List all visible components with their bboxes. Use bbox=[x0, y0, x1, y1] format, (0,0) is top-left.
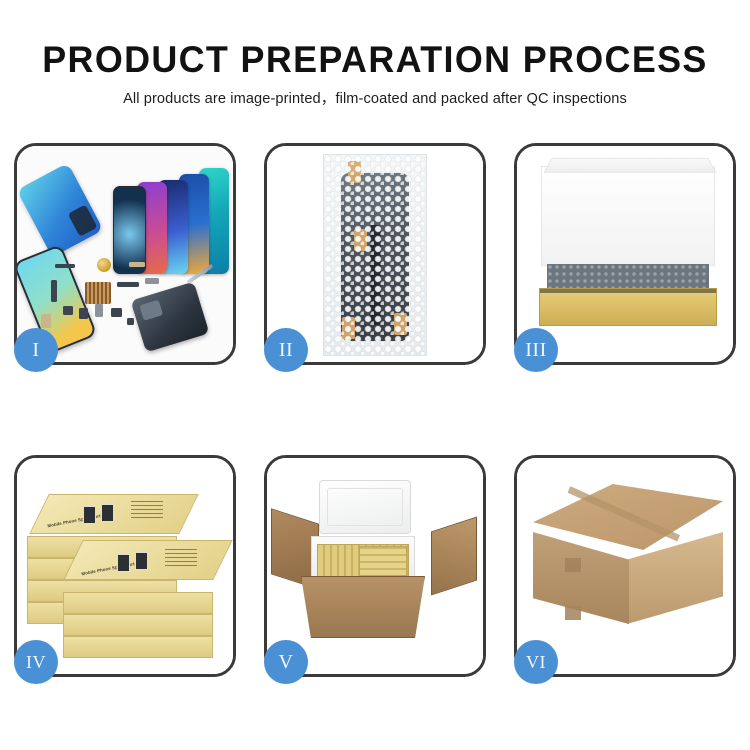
step-2-image bbox=[267, 146, 483, 362]
page-title: PRODUCT PREPARATION PROCESS bbox=[11, 38, 739, 82]
box-print-lines bbox=[131, 500, 163, 518]
part-icon bbox=[55, 264, 75, 268]
white-box-lid-icon bbox=[541, 166, 715, 266]
step-badge-3: III bbox=[514, 328, 558, 372]
kraft-box-tray-icon bbox=[539, 288, 717, 326]
bubble-texture bbox=[324, 155, 426, 355]
blue-lcd-panel-icon bbox=[17, 163, 103, 257]
page-subtitle: All products are image-printed，film-coat… bbox=[0, 89, 750, 109]
step-badge-1: I bbox=[14, 328, 58, 372]
part-icon bbox=[129, 262, 145, 267]
bubble-bag bbox=[323, 154, 427, 356]
step-badge-6: VI bbox=[514, 640, 558, 684]
bubble-wrapped-screen-illustration bbox=[267, 146, 483, 362]
stacked-retail-boxes-illustration: Mobile Phone Spare Parts Mobile Phone Sp… bbox=[17, 458, 233, 674]
process-step-card-5[interactable]: V bbox=[264, 455, 486, 677]
carton-body-icon bbox=[301, 576, 425, 638]
part-icon bbox=[111, 308, 122, 317]
sealed-carton-illustration bbox=[517, 458, 733, 674]
part-icon bbox=[41, 314, 51, 328]
step-3-image bbox=[517, 146, 733, 362]
phone-back-cover-icon bbox=[131, 282, 210, 353]
box-print-swatch bbox=[83, 506, 96, 524]
product-preparation-process-page: PRODUCT PREPARATION PROCESS All products… bbox=[0, 0, 750, 750]
step-6-image bbox=[517, 458, 733, 674]
box-print-lines bbox=[165, 548, 197, 566]
open-kraft-box-illustration bbox=[517, 146, 733, 362]
phone-parts-illustration bbox=[17, 146, 233, 362]
step-badge-4: IV bbox=[14, 640, 58, 684]
phone-screen-fan bbox=[109, 162, 229, 274]
foam-padding-icon bbox=[547, 264, 709, 290]
step-badge-2: II bbox=[264, 328, 308, 372]
foam-lid-icon bbox=[319, 480, 411, 534]
step-4-image: Mobile Phone Spare Parts Mobile Phone Sp… bbox=[17, 458, 233, 674]
header: PRODUCT PREPARATION PROCESS All products… bbox=[0, 38, 750, 109]
step-5-image bbox=[267, 458, 483, 674]
speaker-component-icon bbox=[97, 258, 111, 272]
part-icon bbox=[63, 306, 73, 315]
step-badge-5: V bbox=[264, 640, 308, 684]
process-step-card-3[interactable]: III bbox=[514, 143, 736, 365]
part-icon bbox=[117, 282, 139, 287]
process-step-card-1[interactable]: I bbox=[14, 143, 236, 365]
process-step-card-2[interactable]: II bbox=[264, 143, 486, 365]
box-print-swatch bbox=[117, 554, 130, 572]
stacked-box bbox=[63, 614, 213, 636]
box-stack: Mobile Phone Spare Parts Mobile Phone Sp… bbox=[27, 480, 227, 660]
stacked-box bbox=[63, 636, 213, 658]
carton-front-face bbox=[533, 532, 629, 624]
carton-with-foam-illustration bbox=[267, 458, 483, 674]
process-step-card-6[interactable]: VI bbox=[514, 455, 736, 677]
carton-right-flap bbox=[431, 517, 477, 596]
carton-handle-tab bbox=[565, 606, 581, 620]
part-icon bbox=[145, 278, 159, 284]
box-print-swatch bbox=[135, 552, 148, 570]
top-box-lid bbox=[29, 494, 199, 534]
part-icon bbox=[95, 304, 103, 317]
part-icon bbox=[51, 280, 57, 302]
phone-screen-icon bbox=[113, 186, 146, 274]
process-step-grid: I II bbox=[14, 143, 736, 677]
carton-handle-tab bbox=[565, 558, 581, 572]
process-step-card-4[interactable]: Mobile Phone Spare Parts Mobile Phone Sp… bbox=[14, 455, 236, 677]
part-icon bbox=[127, 318, 134, 325]
step-1-image bbox=[17, 146, 233, 362]
box-print-swatch bbox=[101, 504, 114, 522]
stacked-box bbox=[63, 592, 213, 614]
part-icon bbox=[79, 308, 88, 319]
packed-boxes-icon bbox=[359, 546, 407, 576]
chip-grid-icon bbox=[85, 282, 111, 304]
